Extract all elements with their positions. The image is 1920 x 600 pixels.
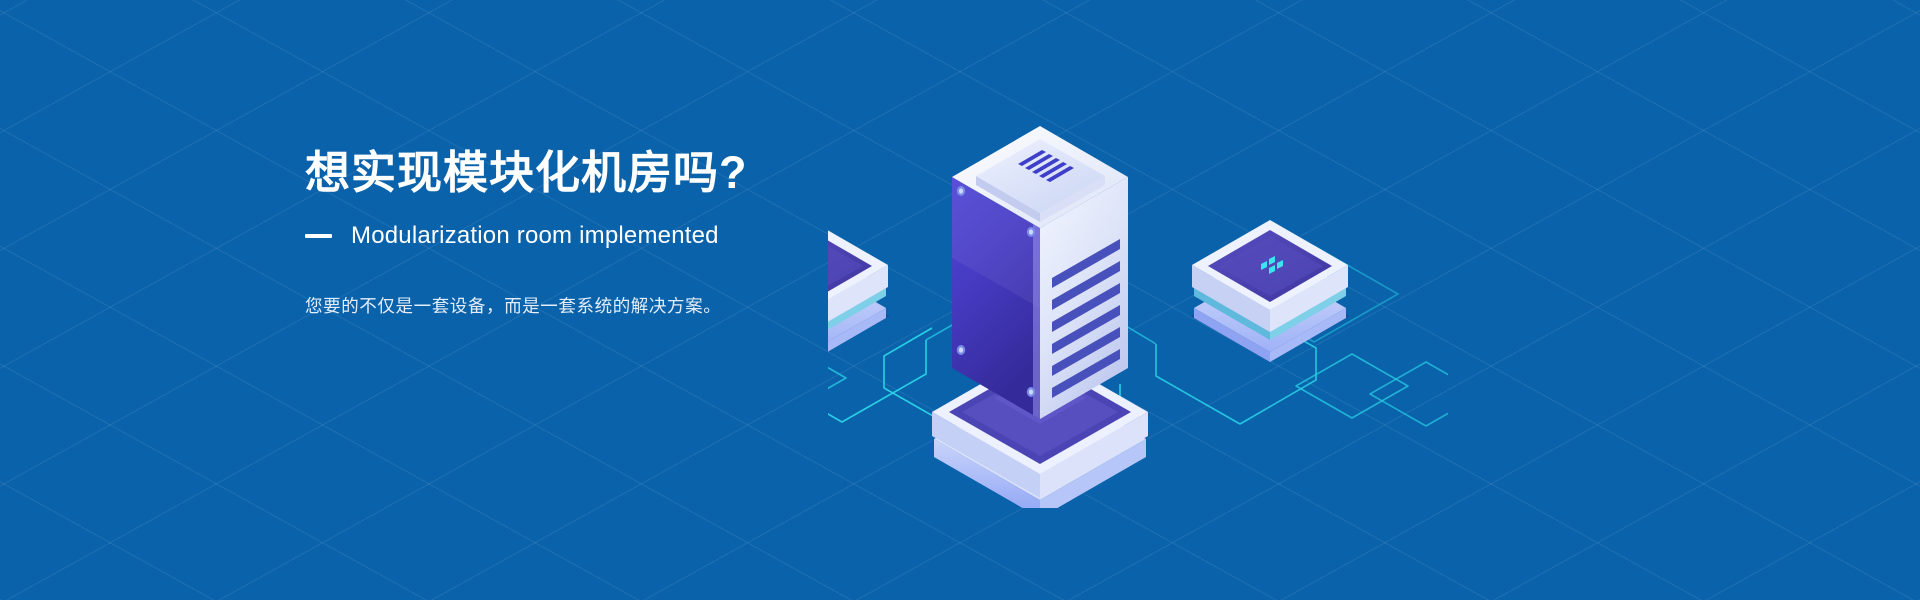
screw-icon — [959, 188, 963, 193]
hero-banner: 想实现模块化机房吗? Modularization room implement… — [0, 0, 1920, 600]
isometric-server-illustration — [828, 78, 1448, 508]
subtitle-text: Modularization room implemented — [351, 224, 719, 248]
accent-dash-icon — [305, 234, 332, 238]
screw-icon — [1029, 389, 1033, 394]
screw-icon — [959, 347, 963, 352]
screw-icon — [1029, 229, 1033, 234]
server-tower — [952, 126, 1128, 419]
chip-module-left — [828, 220, 888, 362]
chip-module-right — [1192, 220, 1348, 362]
